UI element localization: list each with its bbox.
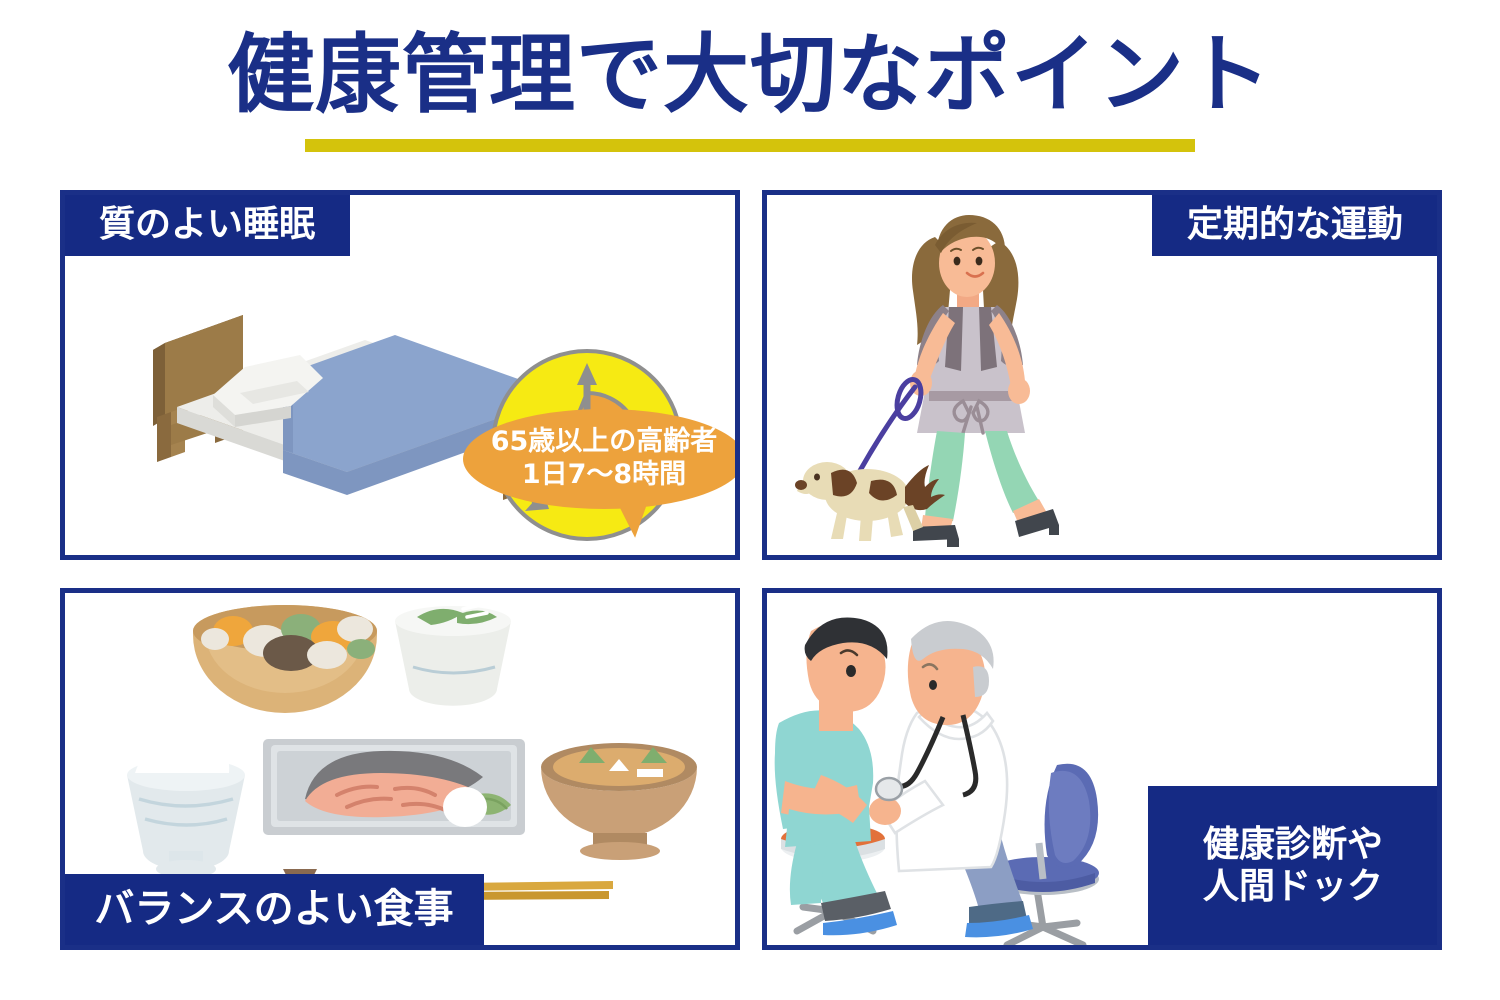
panel-sleep-content: 65歳以上の高齢者 1日7〜8時間 質のよい睡眠	[65, 195, 735, 555]
panel-exercise[interactable]: 毎日 60分 定期的な運動	[762, 190, 1442, 560]
sleep-callout-bubble: 65歳以上の高齢者 1日7〜8時間	[463, 409, 735, 509]
panel-checkup-content: 健康診断や 人間ドック	[767, 593, 1437, 945]
panel-checkup[interactable]: 健康診断や 人間ドック	[762, 588, 1442, 950]
infographic-canvas: 健康管理で大切なポイント	[0, 0, 1500, 1000]
panel-label-exercise-text: 定期的な運動	[1187, 204, 1403, 246]
panel-label-checkup[interactable]: 健康診断や 人間ドック	[1148, 786, 1437, 945]
panel-exercise-content: 毎日 60分 定期的な運動	[767, 195, 1437, 555]
panel-sleep[interactable]: 65歳以上の高齢者 1日7〜8時間 質のよい睡眠	[60, 190, 740, 560]
sleep-callout-line1: 65歳以上の高齢者	[491, 426, 718, 459]
panel-label-meal[interactable]: バランスのよい食事	[65, 874, 484, 945]
panel-meal-content: バランスのよい食事	[65, 593, 735, 945]
panel-meal[interactable]: バランスのよい食事	[60, 588, 740, 950]
panel-label-sleep-text: 質のよい睡眠	[99, 204, 315, 246]
title-underline-bar	[305, 139, 1195, 152]
panel-label-checkup-line1: 健康診断や	[1203, 824, 1383, 866]
page-title-text: 健康管理で大切なポイント	[0, 30, 1500, 120]
sleep-callout-line2: 1日7〜8時間	[522, 459, 686, 492]
panel-label-sleep[interactable]: 質のよい睡眠	[65, 195, 350, 256]
panel-label-meal-text: バランスのよい食事	[94, 886, 453, 933]
panel-label-checkup-line2: 人間ドック	[1203, 866, 1383, 908]
page-title: 健康管理で大切なポイント	[0, 30, 1500, 120]
panel-label-exercise[interactable]: 定期的な運動	[1152, 195, 1437, 256]
